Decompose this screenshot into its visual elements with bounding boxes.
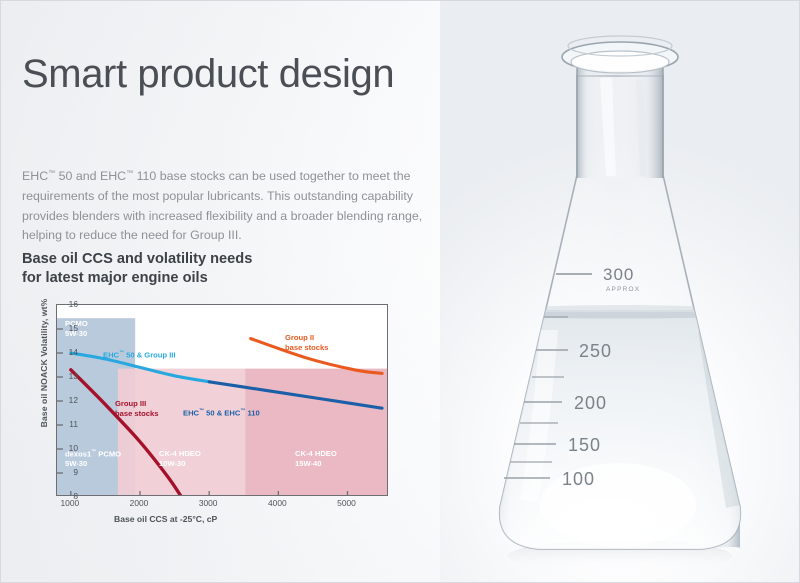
chart-series-label: Group IIbase stocks [285, 333, 328, 352]
x-axis-tick-label: 4000 [257, 498, 297, 508]
chart-band-label: CK-4 HDEO15W-40 [295, 449, 337, 468]
y-axis-tick-label: 14 [48, 347, 78, 357]
chart-plot-area: PCMO5W-30dexos1™ PCMO5W-30CK-4 HDEO10W-3… [56, 304, 388, 496]
x-axis-label: Base oil CCS at -25°C, cP [114, 514, 414, 524]
chart-series-label: Group IIIbase stocks [115, 399, 158, 418]
y-axis-tick-label: 9 [48, 467, 78, 477]
erlenmeyer-flask-icon: 300 APPROX 250 200 150 100 [440, 0, 800, 583]
svg-text:300: 300 [603, 265, 634, 284]
chart-series-label: EHC™ 50 & EHC™ 110 [183, 407, 260, 418]
page-title: Smart product design [22, 52, 394, 97]
y-axis-tick-label: 13 [48, 371, 78, 381]
y-axis-tick-label: 16 [48, 299, 78, 309]
y-axis-tick-label: 10 [48, 443, 78, 453]
x-axis-tick-label: 1000 [50, 498, 90, 508]
chart-series-label: EHC™ 50 & Group III [103, 349, 176, 360]
y-axis-tick-label: 15 [48, 323, 78, 333]
chart-band [245, 369, 388, 496]
flask-photo: 300 APPROX 250 200 150 100 [440, 0, 800, 583]
svg-text:150: 150 [568, 435, 601, 455]
svg-text:200: 200 [574, 393, 607, 413]
svg-text:100: 100 [562, 469, 595, 489]
x-axis-tick-label: 3000 [188, 498, 228, 508]
chart-heading: Base oil CCS and volatility needs for la… [22, 250, 322, 288]
svg-text:APPROX: APPROX [606, 286, 640, 293]
left-content-panel: Smart product design EHC™ 50 and EHC™ 11… [0, 0, 455, 583]
chart-band [118, 369, 245, 496]
svg-text:250: 250 [579, 341, 612, 361]
y-axis-tick-label: 12 [48, 395, 78, 405]
chart-container: Base oil NOACK Volatility, wt% Base oil … [14, 296, 414, 530]
chart-heading-line-1: Base oil CCS and volatility needs [22, 250, 322, 269]
x-axis-tick-label: 2000 [119, 498, 159, 508]
intro-paragraph: EHC™ 50 and EHC™ 110 base stocks can be … [22, 164, 437, 245]
chart-heading-line-2: for latest major engine oils [22, 269, 322, 288]
chart-band-label: CK-4 HDEO10W-30 [159, 449, 201, 468]
y-axis-tick-label: 11 [48, 419, 78, 429]
x-axis-tick-label: 5000 [327, 498, 367, 508]
